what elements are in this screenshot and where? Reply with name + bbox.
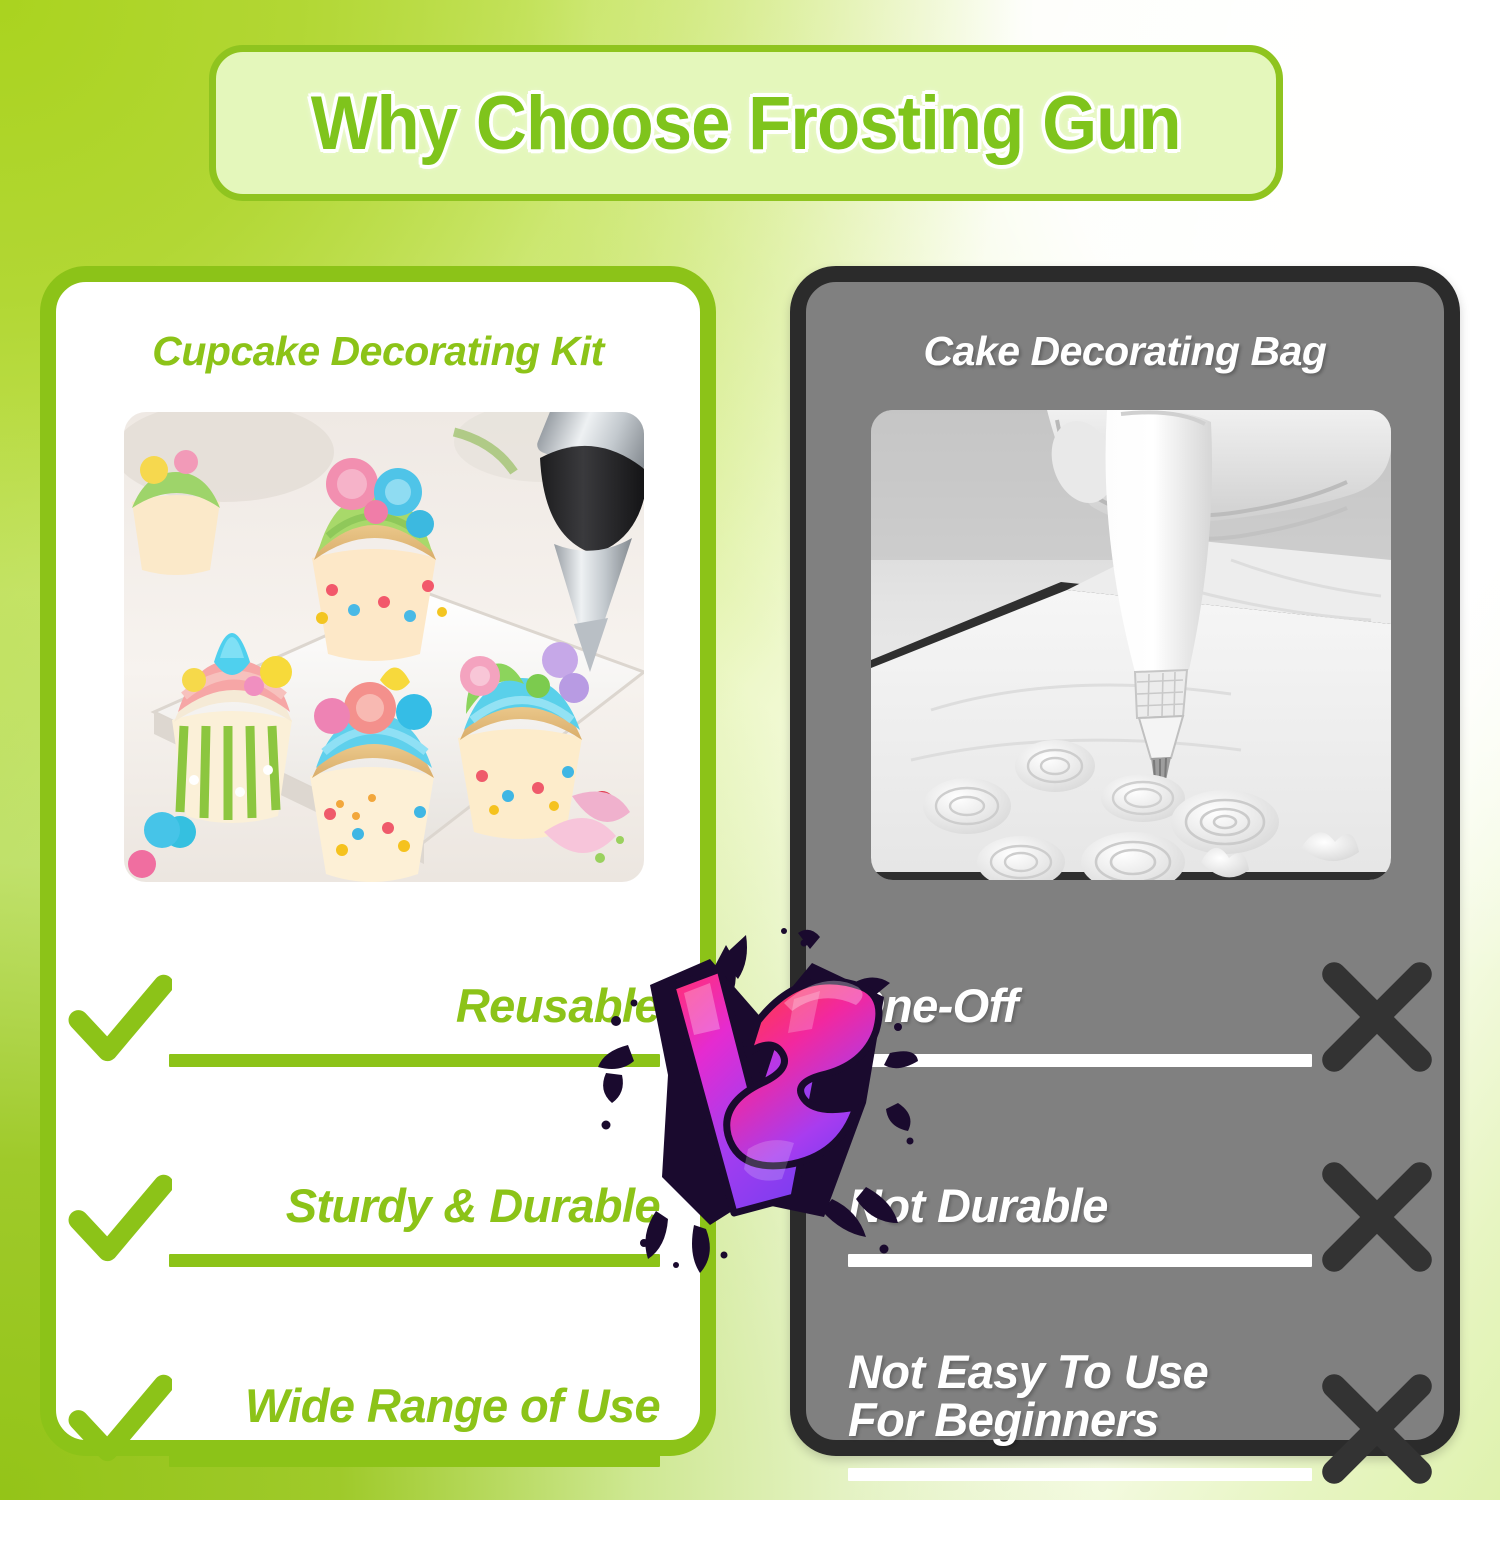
- cons-feature-label: One-Off: [848, 982, 1018, 1030]
- cons-feature-row: Not Easy To Use For Beginners: [806, 1372, 1444, 1547]
- cross-icon: [1314, 1366, 1440, 1492]
- title-banner: Why Choose Frosting Gun: [209, 45, 1283, 201]
- page-title: Why Choose Frosting Gun: [311, 80, 1181, 167]
- pros-card-title: Cupcake Decorating Kit: [56, 328, 700, 375]
- pros-feature-list: Reusable Sturdy & Durable Wide Range of …: [56, 982, 700, 1440]
- pros-feature-rule: [169, 1054, 660, 1067]
- check-icon: [68, 1368, 172, 1472]
- pros-feature-rule: [169, 1254, 660, 1267]
- pros-feature-label: Sturdy & Durable: [286, 1182, 660, 1230]
- pros-feature-label: Reusable: [456, 982, 660, 1030]
- cons-feature-list: One-Off Not Durable Not Easy To Use For …: [806, 982, 1444, 1440]
- pros-feature-rule: [169, 1454, 660, 1467]
- cons-feature-row: One-Off: [806, 982, 1444, 1157]
- cons-feature-label: Not Easy To Use For Beginners: [848, 1348, 1208, 1444]
- cons-feature-label-line1: Not Easy To Use: [848, 1348, 1208, 1396]
- check-icon: [68, 968, 172, 1072]
- cons-feature-rule: [848, 1254, 1312, 1267]
- cons-feature-row: Not Durable: [806, 1182, 1444, 1357]
- cons-feature-rule: [848, 1054, 1312, 1067]
- cons-card: Cake Decorating Bag: [790, 266, 1460, 1456]
- cons-feature-label-line2: For Beginners: [848, 1396, 1208, 1444]
- piping-bag-photo: [871, 410, 1391, 880]
- infographic-root: Why Choose Frosting Gun Cupcake Decorati…: [0, 0, 1500, 1500]
- cross-icon: [1314, 1154, 1440, 1280]
- pros-feature-row: Reusable: [56, 982, 700, 1157]
- cons-feature-rule: [848, 1468, 1312, 1481]
- cross-icon: [1314, 954, 1440, 1080]
- check-icon: [68, 1168, 172, 1272]
- pros-feature-row: Sturdy & Durable: [56, 1182, 700, 1357]
- pros-feature-row: Wide Range of Use: [56, 1382, 700, 1557]
- pros-card: Cupcake Decorating Kit: [40, 266, 716, 1456]
- cupcake-kit-photo: [124, 412, 644, 882]
- cons-card-title: Cake Decorating Bag: [806, 328, 1444, 375]
- cons-feature-label: Not Durable: [848, 1182, 1108, 1230]
- pros-feature-label: Wide Range of Use: [245, 1382, 660, 1430]
